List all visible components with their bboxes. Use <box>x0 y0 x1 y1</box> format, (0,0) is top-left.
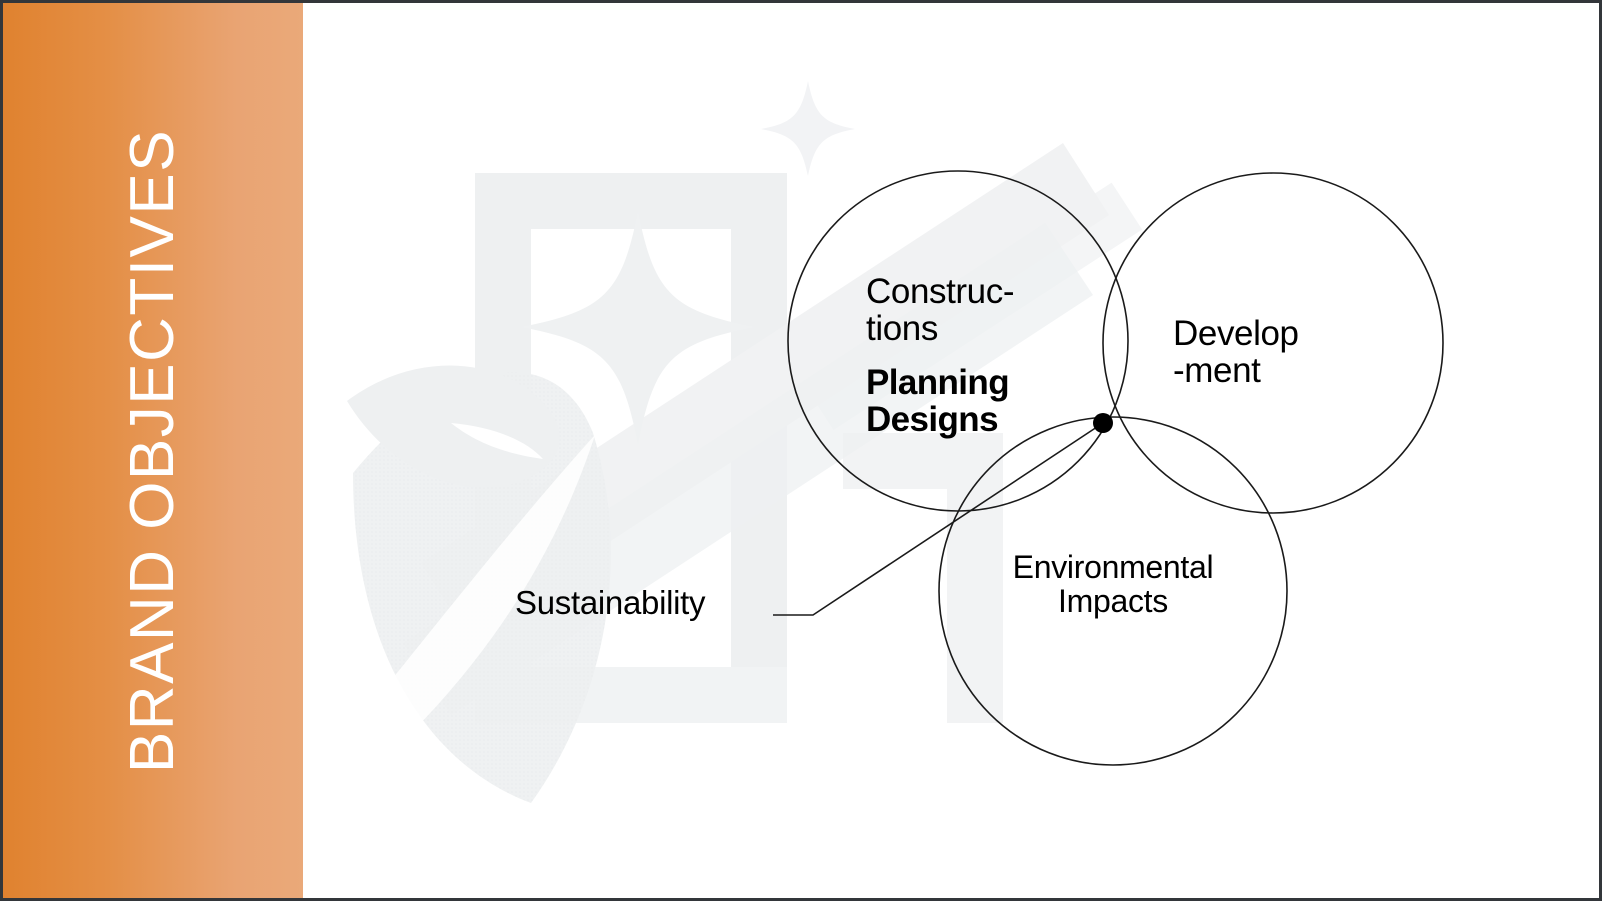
venn-label-sustainability: Sustainability <box>515 584 705 622</box>
sidebar-title-bar: BRAND OBJECTIVES <box>3 3 303 898</box>
venn-label-environmental-line2: Impacts <box>1058 583 1168 619</box>
venn-label-development-line2: -ment <box>1173 351 1260 390</box>
venn-label-development-line1: Develop <box>1173 314 1299 353</box>
venn-label-environmental-line1: Environmental <box>1013 549 1214 585</box>
venn-label-development: Develop -ment <box>1173 315 1299 389</box>
venn-labels-layer: Construc- tions Planning Designs Develop… <box>303 3 1599 898</box>
venn-label-constructions-bold2: Designs <box>866 401 1014 438</box>
venn-label-constructions-line1: Construc- <box>866 272 1014 311</box>
venn-label-constructions-line2: tions <box>866 309 938 348</box>
venn-label-constructions-bold1: Planning <box>866 364 1014 401</box>
page-title: BRAND OBJECTIVES <box>122 128 184 772</box>
slide-canvas: BRAND OBJECTIVES Construc- tions Plannin… <box>0 0 1602 901</box>
venn-label-constructions: Construc- tions Planning Designs <box>866 273 1014 438</box>
venn-label-environmental-impacts: Environmental Impacts <box>993 550 1233 618</box>
